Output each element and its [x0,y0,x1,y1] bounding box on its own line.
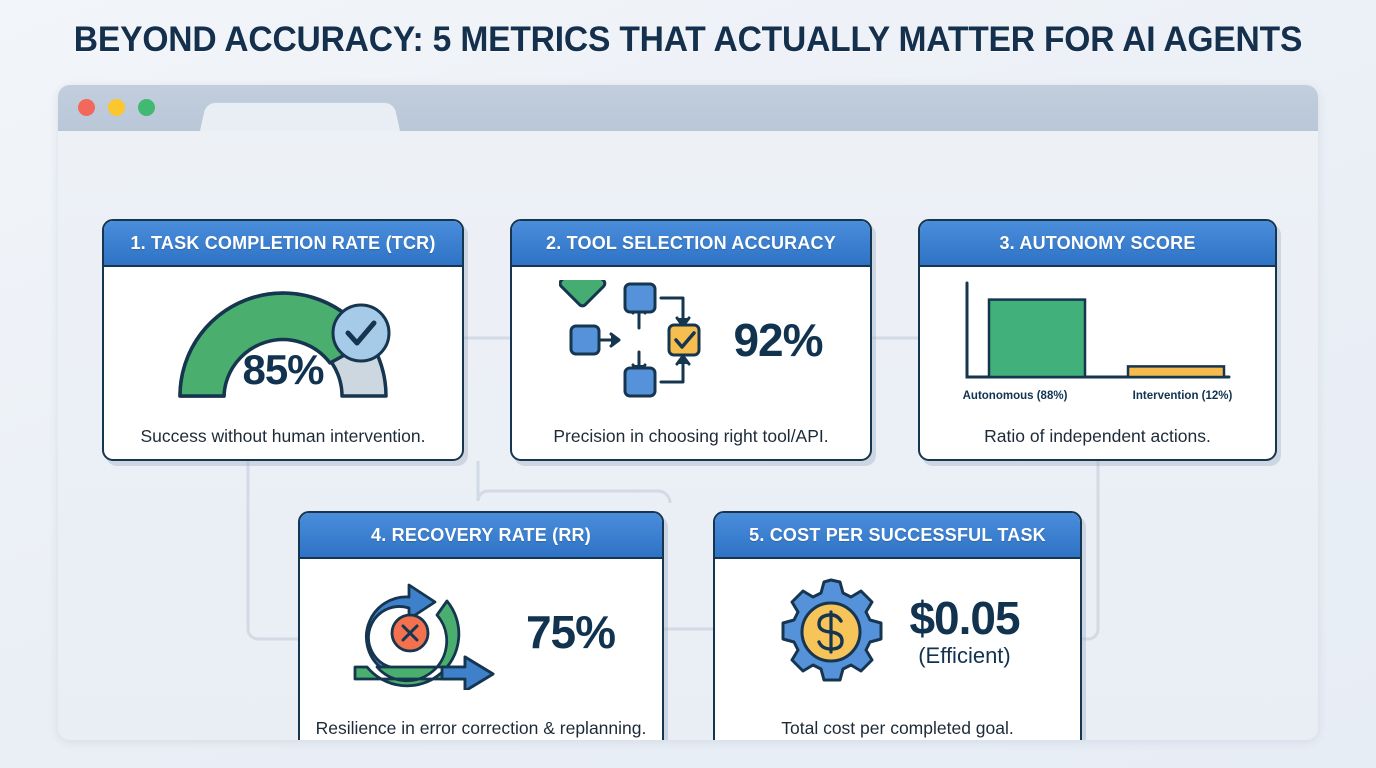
metric-value: $0.05 [909,595,1019,641]
flow-diagram-icon [559,280,719,400]
card-visual-area: Autonomous (88%) Intervention (12%) [920,267,1275,413]
card-description: Precision in choosing right tool/API. [512,413,870,459]
recovery-loop-icon [347,575,512,690]
browser-chrome [58,85,1318,131]
close-window-button[interactable] [78,99,95,116]
maximize-window-button[interactable] [138,99,155,116]
card-description: Success without human intervention. [104,413,462,459]
bar-label-intervention: Intervention (12%) [1133,390,1233,402]
card-description: Ratio of independent actions. [920,413,1275,459]
browser-tab[interactable] [200,103,400,131]
card-header-title: 1. TASK COMPLETION RATE (TCR) [104,221,462,267]
metric-card-tool-selection-accuracy[interactable]: 2. TOOL SELECTION ACCURACY [510,219,872,461]
metric-card-task-completion-rate[interactable]: 1. TASK COMPLETION RATE (TCR) 85% Succes… [102,219,464,461]
metric-sub-value: (Efficient) [918,643,1011,669]
card-description: Resilience in error correction & replann… [300,705,662,740]
card-header-title: 2. TOOL SELECTION ACCURACY [512,221,870,267]
metric-value: 75% [526,609,615,655]
card-visual-area: 92% [512,267,870,413]
gear-dollar-icon [775,576,887,688]
card-description: Total cost per completed goal. [715,705,1080,740]
bar-label-autonomous: Autonomous (88%) [963,390,1068,402]
card-visual-area: 85% [104,267,462,413]
minimize-window-button[interactable] [108,99,125,116]
bar-chart-icon [953,279,1243,389]
window-controls [78,99,155,116]
metric-card-autonomy-score[interactable]: 3. AUTONOMY SCORE Autonomous (88%) Inter… [918,219,1277,461]
card-visual-area: 75% [300,559,662,705]
browser-window-mockup: 1. TASK COMPLETION RATE (TCR) 85% Succes… [58,85,1318,740]
browser-content-area: 1. TASK COMPLETION RATE (TCR) 85% Succes… [58,131,1318,740]
page-title: BEYOND ACCURACY: 5 METRICS THAT ACTUALLY… [28,20,1349,60]
bar-chart-axis-labels: Autonomous (88%) Intervention (12%) [930,390,1265,402]
infographic-canvas: BEYOND ACCURACY: 5 METRICS THAT ACTUALLY… [0,0,1376,768]
metric-card-recovery-rate[interactable]: 4. RECOVERY RATE (RR) 75% Resilience in [298,511,664,740]
card-header-title: 3. AUTONOMY SCORE [920,221,1275,267]
card-header-title: 4. RECOVERY RATE (RR) [300,513,662,559]
metric-card-cost-per-successful-task[interactable]: 5. COST PER SUCCESSFUL TASK $0.05 (Effic… [713,511,1082,740]
card-header-title: 5. COST PER SUCCESSFUL TASK [715,513,1080,559]
metric-value: 92% [733,317,822,363]
card-visual-area: $0.05 (Efficient) [715,559,1080,705]
gauge-value: 85% [158,346,408,394]
